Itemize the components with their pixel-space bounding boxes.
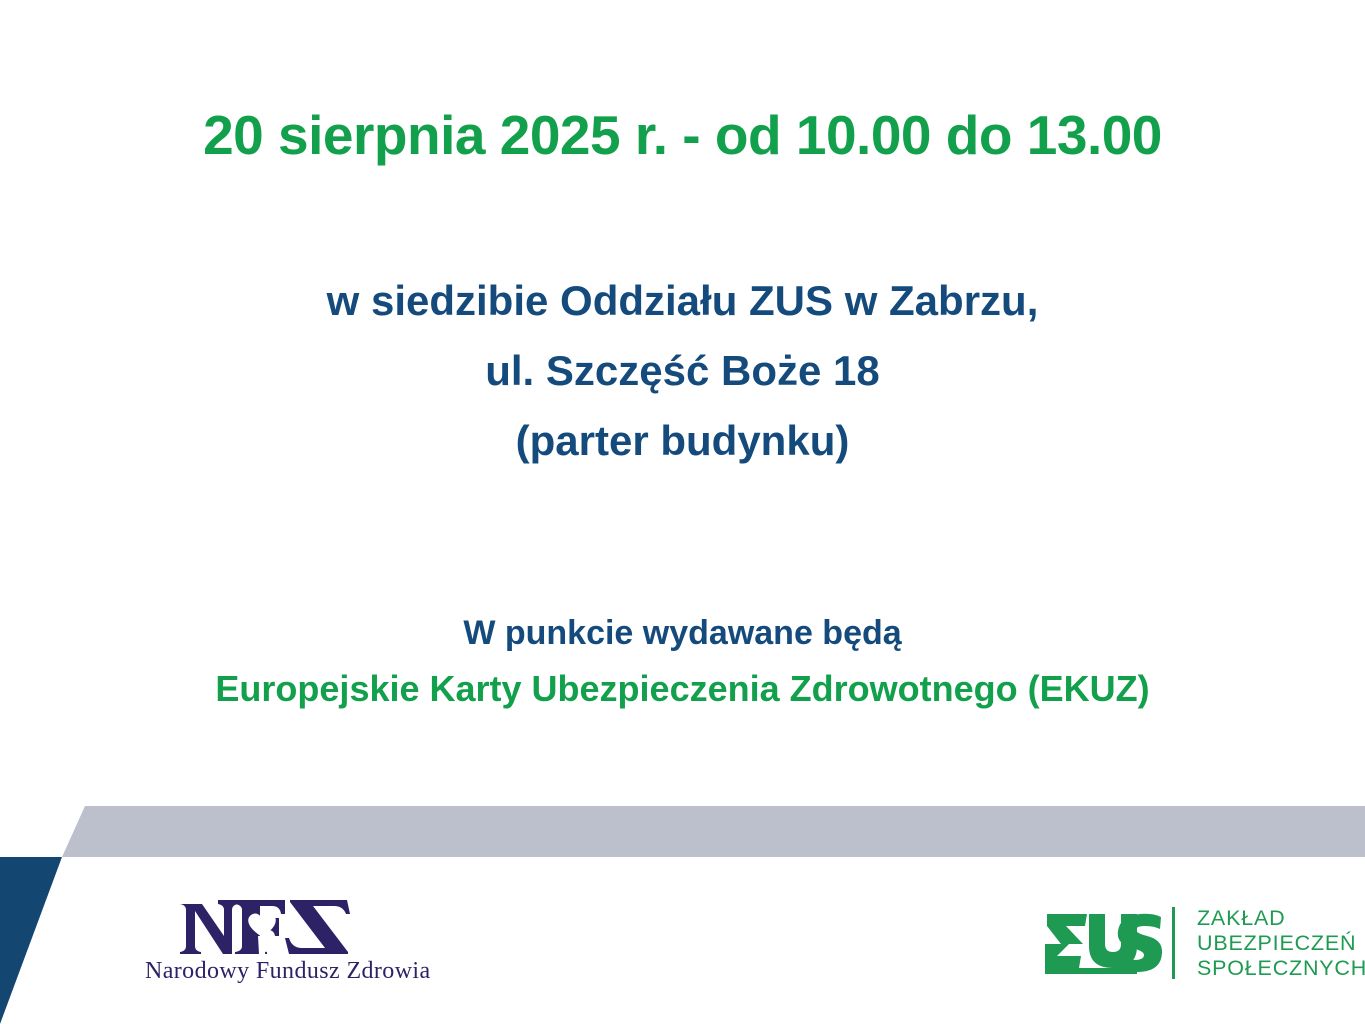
nfz-caption: Narodowy Fundusz Zdrowia	[145, 956, 385, 986]
nfz-wordmark-icon	[178, 898, 353, 956]
zus-subtitle-line-2: UBEZPIECZEŃ	[1197, 931, 1365, 956]
zus-subtitle: ZAKŁAD UBEZPIECZEŃ SPOŁECZNYCH	[1197, 906, 1365, 981]
zus-subtitle-line-1: ZAKŁAD	[1197, 906, 1365, 931]
slide-canvas: 20 sierpnia 2025 r. - od 10.00 do 13.00 …	[0, 0, 1365, 1024]
note-block: W punkcie wydawane będą Europejskie Kart…	[0, 605, 1365, 717]
venue-line-2: ul. Szczęść Boże 18	[0, 336, 1365, 406]
zus-logo: ZAKŁAD UBEZPIECZEŃ SPOŁECZNYCH	[1043, 902, 1343, 984]
zus-logo-divider	[1172, 907, 1175, 979]
nfz-logo: Narodowy Fundusz Zdrowia	[145, 898, 385, 990]
zus-subtitle-line-3: SPOŁECZNYCH	[1197, 956, 1365, 981]
venue-line-1: w siedzibie Oddziału ZUS w Zabrzu,	[0, 266, 1365, 336]
note-line-1: W punkcie wydawane będą	[0, 605, 1365, 661]
gray-band-shape	[62, 806, 1365, 857]
venue-block: w siedzibie Oddziału ZUS w Zabrzu, ul. S…	[0, 266, 1365, 476]
page-title: 20 sierpnia 2025 r. - od 10.00 do 13.00	[0, 100, 1365, 170]
navy-wedge-shape	[0, 857, 62, 1024]
venue-line-3: (parter budynku)	[0, 406, 1365, 476]
zus-wordmark-icon	[1043, 910, 1163, 976]
note-line-2: Europejskie Karty Ubezpieczenia Zdrowotn…	[0, 661, 1365, 717]
